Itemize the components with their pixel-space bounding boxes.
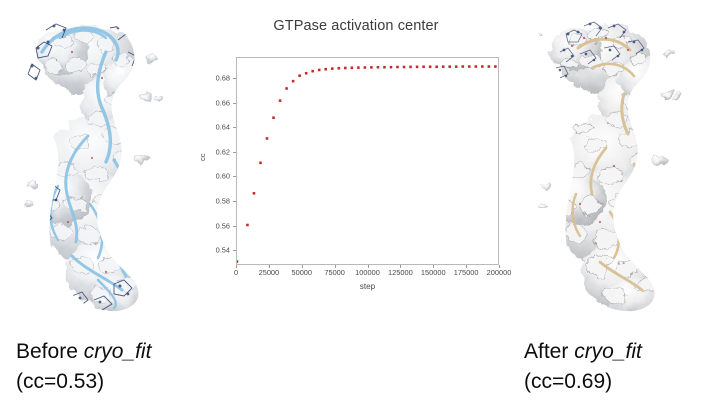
x-tick-mark <box>302 265 303 268</box>
y-tick-mark <box>233 103 236 104</box>
y-tick-mark <box>233 250 236 251</box>
x-tick-label: 50000 <box>291 268 312 277</box>
data-point <box>253 192 256 195</box>
data-point <box>475 65 478 68</box>
y-axis-label: cc <box>198 153 207 161</box>
x-tick-label: 25000 <box>259 268 280 277</box>
y-tick-mark <box>233 127 236 128</box>
x-tick-label: 200000 <box>487 268 512 277</box>
before-cryo-fit-structure-image <box>2 8 202 320</box>
y-tick-label: 0.68 <box>216 73 230 82</box>
x-tick-label: 100000 <box>355 268 380 277</box>
caption-after-cryo-fit: After cryo_fit (cc=0.69) <box>524 337 642 397</box>
x-tick-mark <box>400 265 401 268</box>
data-point <box>337 67 340 70</box>
data-point <box>344 67 347 70</box>
data-point <box>285 87 288 90</box>
plot-area <box>236 57 499 265</box>
data-point <box>370 66 373 69</box>
y-tick-mark <box>233 201 236 202</box>
caption-after-emphasis: cryo_fit <box>574 340 642 363</box>
cryo-em-map-after <box>518 8 718 320</box>
x-tick-label: 175000 <box>454 268 479 277</box>
data-point <box>305 72 308 75</box>
y-tick-label: 0.58 <box>216 197 230 206</box>
y-tick-mark <box>233 176 236 177</box>
data-point <box>488 65 491 68</box>
data-point <box>461 65 464 68</box>
x-tick-label: 0 <box>234 268 238 277</box>
data-point <box>298 74 301 77</box>
caption-after-cc: (cc=0.69) <box>524 367 642 397</box>
x-tick-mark <box>499 265 500 268</box>
data-point <box>357 66 360 69</box>
y-tick-label: 0.54 <box>216 246 230 255</box>
data-point <box>383 66 386 69</box>
after-cryo-fit-structure-image <box>518 8 718 320</box>
x-tick-label: 125000 <box>388 268 413 277</box>
caption-after-prefix: After <box>524 340 574 363</box>
y-tick-label: 0.60 <box>216 172 230 181</box>
data-point <box>396 66 399 69</box>
data-point <box>416 66 419 69</box>
y-tick-label: 0.62 <box>216 147 230 156</box>
scatter-points-layer <box>237 58 498 264</box>
data-point <box>481 65 484 68</box>
cc-vs-step-chart: GTPase activation center cc 0.540.560.58… <box>200 8 512 308</box>
x-tick-mark <box>236 265 237 268</box>
data-point <box>237 260 238 263</box>
data-point <box>429 65 432 68</box>
y-tick-label: 0.64 <box>216 123 230 132</box>
data-point <box>331 67 334 70</box>
data-point <box>494 65 497 68</box>
y-tick-mark <box>233 226 236 227</box>
caption-before-cc: (cc=0.53) <box>16 367 151 397</box>
data-point <box>272 116 275 119</box>
x-tick-mark <box>269 265 270 268</box>
x-tick-mark <box>368 265 369 268</box>
data-point <box>377 66 380 69</box>
data-point <box>448 65 451 68</box>
data-point <box>435 65 438 68</box>
data-point <box>246 224 249 227</box>
data-point <box>442 65 445 68</box>
data-point <box>409 66 412 69</box>
caption-before-cryo-fit: Before cryo_fit (cc=0.53) <box>16 337 151 397</box>
data-point <box>324 68 327 71</box>
y-tick-mark <box>233 78 236 79</box>
data-point <box>455 65 458 68</box>
caption-before-emphasis: cryo_fit <box>84 340 152 363</box>
data-point <box>266 137 269 140</box>
x-tick-label: 150000 <box>421 268 446 277</box>
x-tick-label: 75000 <box>324 268 345 277</box>
y-tick-mark <box>233 152 236 153</box>
chart-title: GTPase activation center <box>200 18 512 34</box>
data-point <box>351 66 354 69</box>
data-point <box>403 66 406 69</box>
data-point <box>364 66 367 69</box>
x-tick-mark <box>335 265 336 268</box>
data-point <box>468 65 471 68</box>
data-point <box>259 162 262 165</box>
data-point <box>311 70 314 73</box>
x-axis-label: step <box>236 282 499 291</box>
data-point <box>390 66 393 69</box>
data-point <box>279 99 282 102</box>
data-point <box>422 65 425 68</box>
data-point <box>318 69 321 72</box>
cryo-em-map-before <box>2 8 202 320</box>
x-tick-mark <box>433 265 434 268</box>
x-tick-mark <box>466 265 467 268</box>
y-tick-label: 0.66 <box>216 98 230 107</box>
data-point <box>292 80 295 83</box>
caption-before-prefix: Before <box>16 340 84 363</box>
y-tick-label: 0.56 <box>216 221 230 230</box>
